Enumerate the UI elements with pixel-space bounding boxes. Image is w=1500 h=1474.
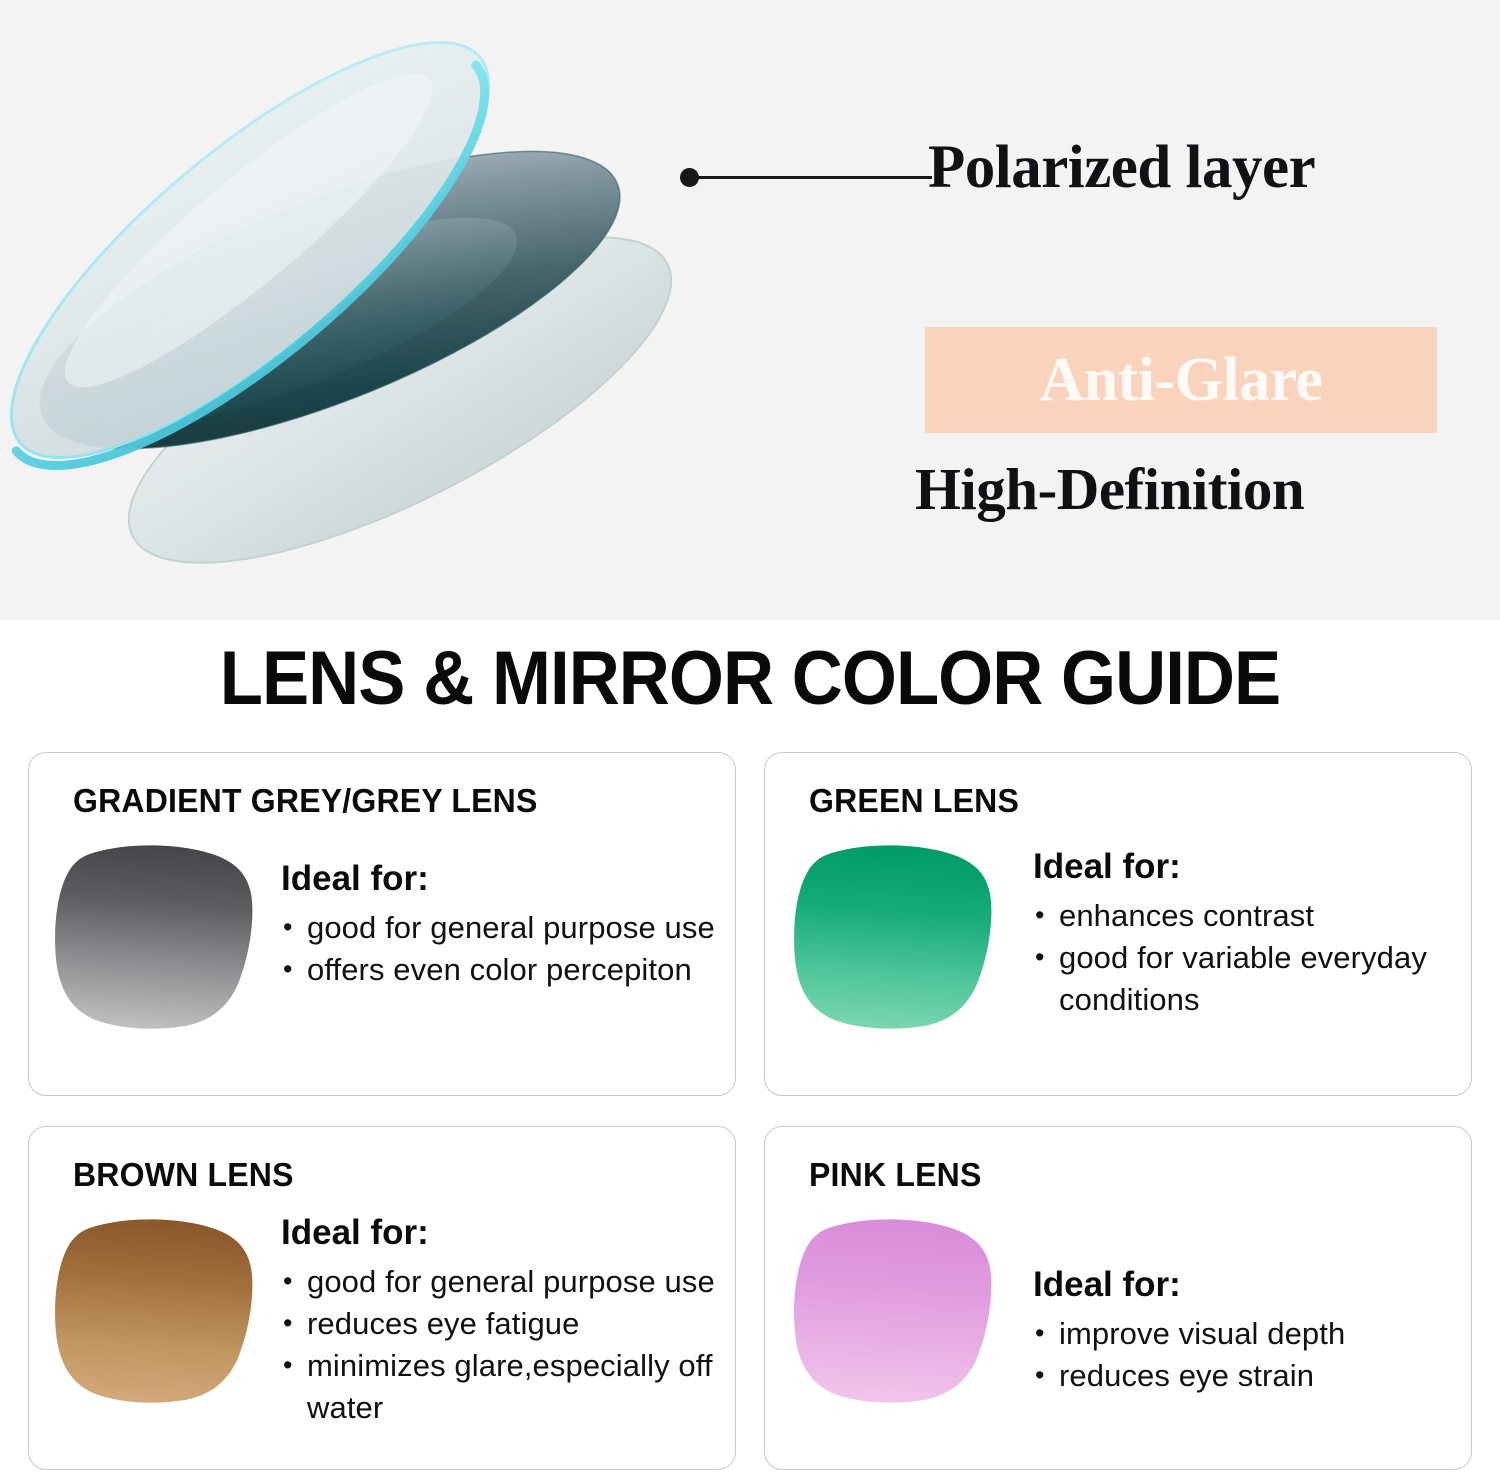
- ideal-for-label: Ideal for:: [281, 859, 735, 899]
- ideal-for-label: Ideal for:: [1033, 847, 1471, 887]
- callout-leader-line: [692, 176, 932, 179]
- lens-card-body: Ideal for: good for general purpose use …: [29, 1213, 735, 1465]
- lens-guide-page: Polarized layer Anti-Glare High-Definiti…: [0, 0, 1500, 1474]
- ideal-for-label: Ideal for:: [1033, 1265, 1471, 1305]
- lens-card-pink: PINK LENS: [764, 1126, 1472, 1470]
- lens-card-title: GREEN LENS: [809, 782, 1019, 820]
- high-definition-label: High-Definition: [915, 455, 1304, 524]
- hero-section: Polarized layer Anti-Glare High-Definiti…: [0, 0, 1500, 620]
- lens-card-body: Ideal for: improve visual depth reduces …: [765, 1213, 1471, 1465]
- lens-card-gradient-grey: GRADIENT GREY/GREY LENS: [28, 752, 736, 1096]
- lens-swatch-wrap: [765, 1213, 1023, 1406]
- lens-swatch-wrap: [29, 1213, 281, 1406]
- list-item: good for variable everyday conditions: [1033, 937, 1471, 1021]
- brown-lens-swatch: [45, 1213, 265, 1406]
- list-item: reduces eye fatigue: [281, 1303, 735, 1345]
- gradient-grey-lens-swatch: [45, 839, 265, 1032]
- lens-card-text: Ideal for: good for general purpose use …: [281, 839, 735, 991]
- lens-card-text: Ideal for: enhances contrast good for va…: [1023, 839, 1471, 1021]
- lens-card-brown: BROWN LENS: [28, 1126, 736, 1470]
- list-item: improve visual depth: [1033, 1313, 1471, 1355]
- ideal-for-label: Ideal for:: [281, 1213, 735, 1253]
- page-title: LENS & MIRROR COLOR GUIDE: [53, 639, 1448, 719]
- lens-benefit-list: good for general purpose use reduces eye…: [281, 1261, 735, 1429]
- exploded-polarized-lens-layers-illustration: [0, 0, 780, 620]
- list-item: reduces eye strain: [1033, 1355, 1471, 1397]
- lens-card-green: GREEN LENS: [764, 752, 1472, 1096]
- list-item: enhances contrast: [1033, 895, 1471, 937]
- lens-benefit-list: good for general purpose use offers even…: [281, 907, 735, 991]
- lens-swatch-wrap: [29, 839, 281, 1032]
- list-item: offers even color percepiton: [281, 949, 735, 991]
- lens-color-card-grid: GRADIENT GREY/GREY LENS: [28, 752, 1472, 1442]
- lens-card-body: Ideal for: good for general purpose use …: [29, 839, 735, 1091]
- lens-card-title: PINK LENS: [809, 1156, 981, 1194]
- pink-lens-swatch: [784, 1213, 1004, 1406]
- list-item: minimizes glare,especially off water: [281, 1345, 735, 1429]
- lens-swatch-wrap: [765, 839, 1023, 1032]
- list-item: good for general purpose use: [281, 907, 735, 949]
- polarized-layer-callout-label: Polarized layer: [928, 133, 1315, 203]
- lens-card-text: Ideal for: good for general purpose use …: [281, 1213, 735, 1429]
- lens-card-body: Ideal for: enhances contrast good for va…: [765, 839, 1471, 1091]
- list-item: good for general purpose use: [281, 1261, 735, 1303]
- lens-card-title: BROWN LENS: [73, 1156, 294, 1194]
- lens-card-title: GRADIENT GREY/GREY LENS: [73, 782, 538, 820]
- anti-glare-badge: Anti-Glare: [925, 327, 1437, 433]
- lens-card-text: Ideal for: improve visual depth reduces …: [1023, 1213, 1471, 1397]
- anti-glare-badge-label: Anti-Glare: [925, 327, 1437, 433]
- green-lens-swatch: [784, 839, 1004, 1032]
- lens-benefit-list: improve visual depth reduces eye strain: [1033, 1313, 1471, 1397]
- lens-benefit-list: enhances contrast good for variable ever…: [1033, 895, 1471, 1021]
